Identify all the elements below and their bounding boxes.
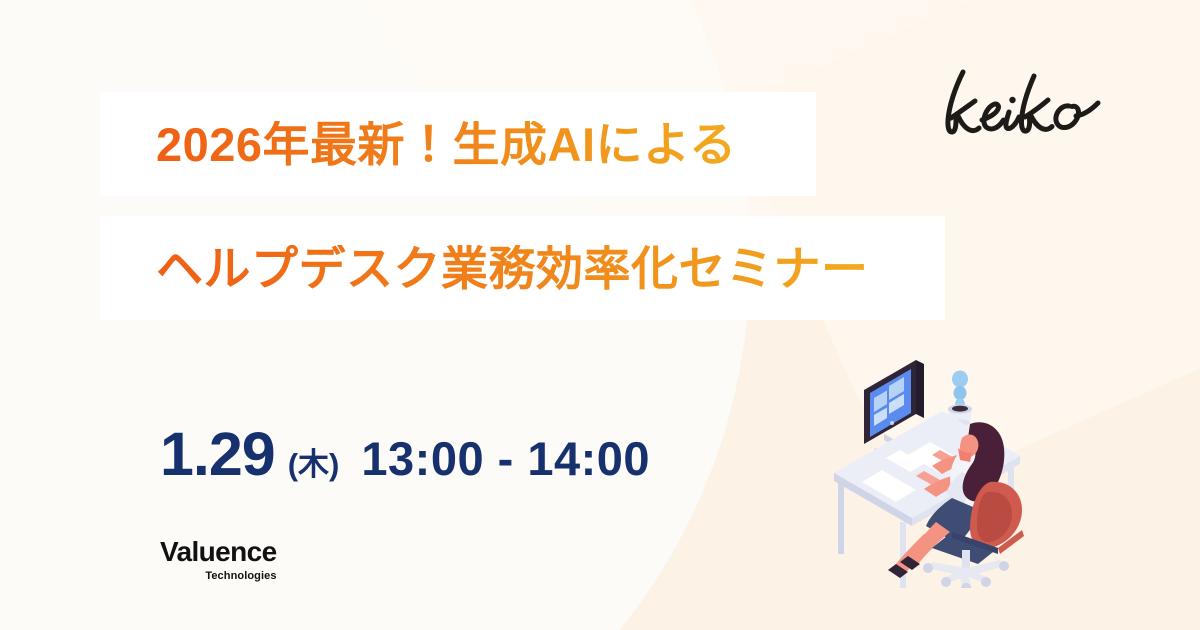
keiko-brand-logo: [930, 62, 1110, 146]
company-logo-subtext: Technologies: [160, 571, 277, 582]
title-band-line-1: 2026年最新！生成AIによる: [100, 92, 816, 196]
title-line-1: 2026年最新！生成AIによる: [156, 121, 737, 168]
company-logo-wordmark: Valuence: [160, 538, 277, 566]
schedule-row: 1.29 (木) 13:00 - 14:00: [160, 424, 650, 485]
title-band-line-2: ヘルプデスク業務効率化セミナー: [100, 216, 945, 320]
schedule-time: 13:00 - 14:00: [361, 435, 650, 482]
seminar-banner: 2026年最新！生成AIによる ヘルプデスク業務効率化セミナー 1.29 (木)…: [0, 0, 1200, 630]
schedule-date: 1.29: [160, 424, 275, 485]
desk-work-illustration: [812, 352, 1062, 588]
schedule-weekday: (木): [288, 449, 340, 480]
company-logo: Valuence Technologies: [160, 538, 277, 582]
title-line-2: ヘルプデスク業務効率化セミナー: [156, 245, 869, 292]
